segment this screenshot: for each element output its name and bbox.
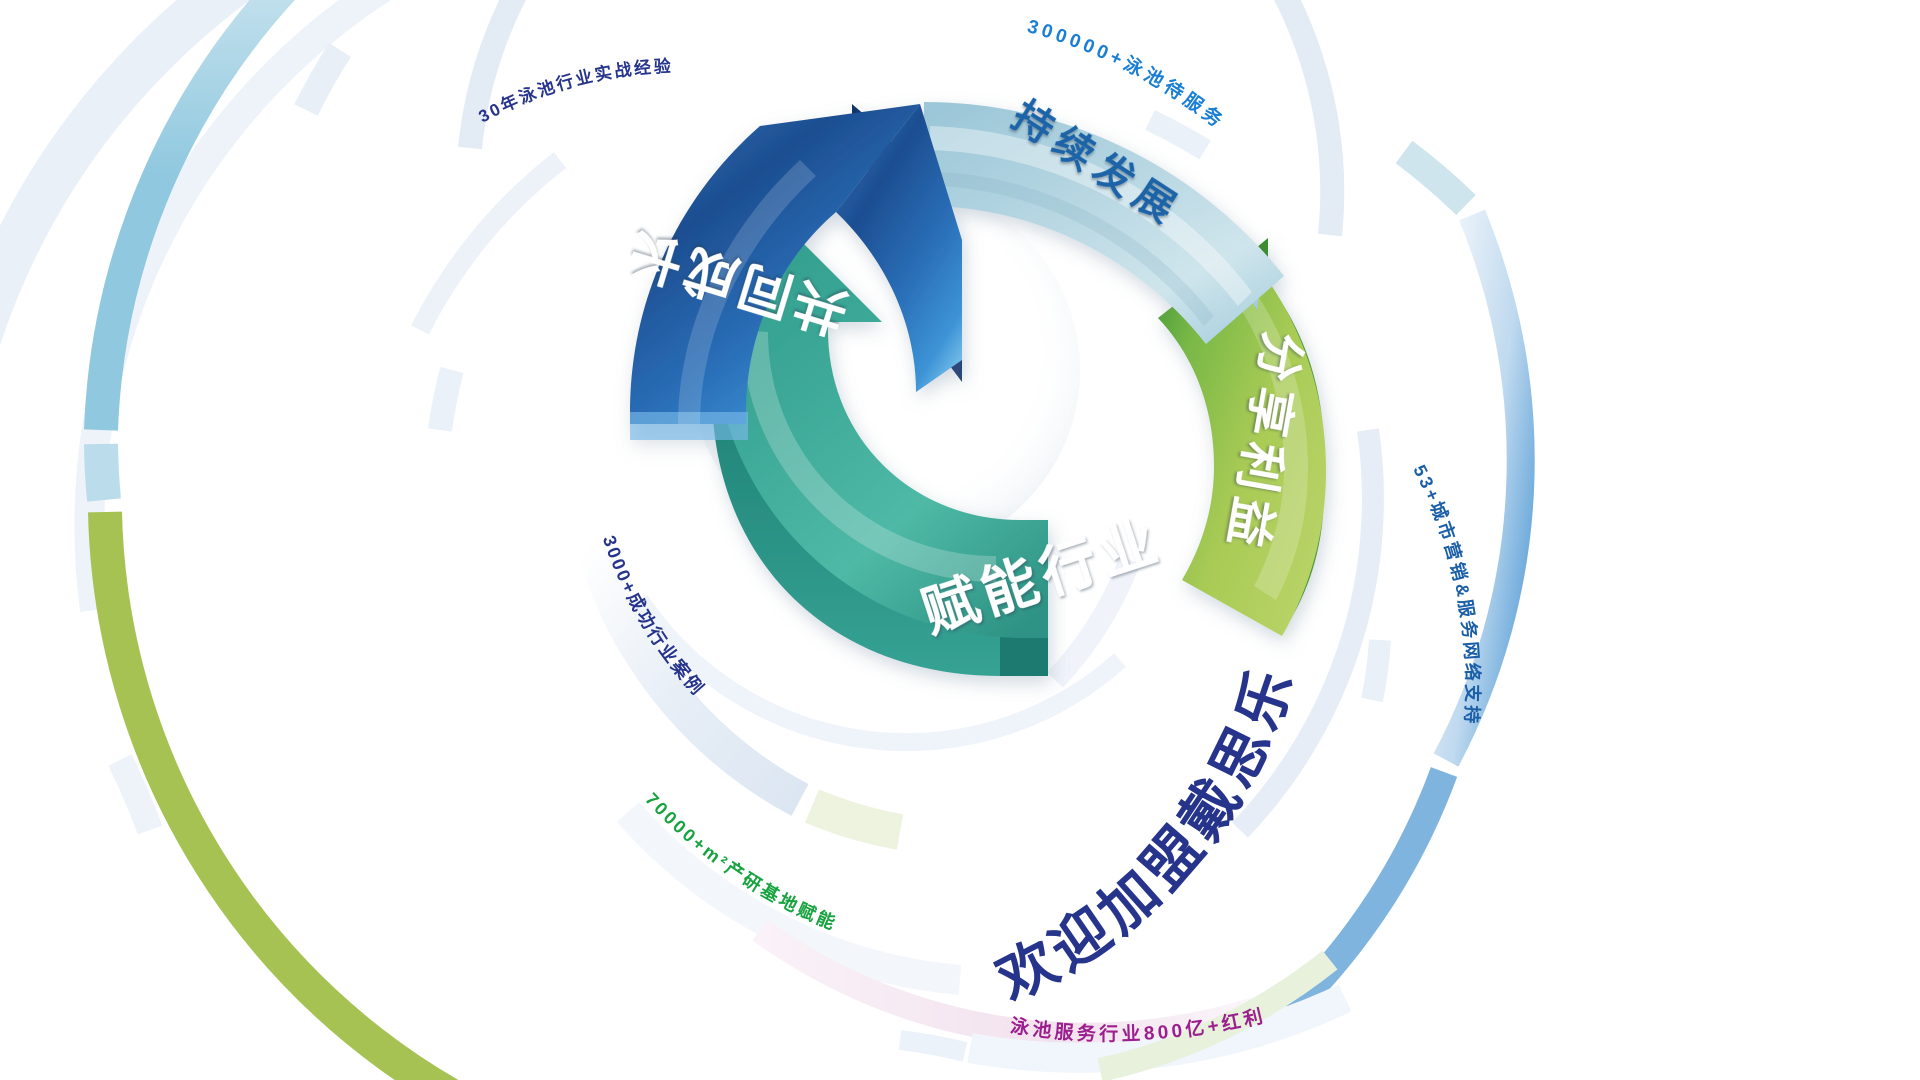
decor-ring-mid-5: [812, 806, 900, 832]
decor-ring-blue-left-tip: [101, 444, 104, 500]
stat-cities-text: 53+城市营销&服务网络支持: [1409, 462, 1483, 727]
decor-ring-green-left: [105, 512, 520, 1080]
segment-empower-side2: [1000, 636, 1048, 676]
decor-tick-5: [900, 1040, 965, 1052]
decor-tick-2: [1150, 120, 1205, 150]
poster-canvas: 共同成长 持续发展 分享利益 赋能行业 30年泳池行业实战经验 300000+泳…: [0, 0, 1920, 1080]
decor-ring-blue-right-tip: [1404, 152, 1466, 205]
poster-svg: 共同成长 持续发展 分享利益 赋能行业 30年泳池行业实战经验 300000+泳…: [0, 0, 1920, 1080]
decor-ring-blue-right: [1446, 215, 1521, 760]
decor-ring-mid-2: [420, 160, 560, 330]
decor-tick-4: [1372, 640, 1380, 700]
stat-experience-text: 30年泳池行业实战经验: [476, 56, 674, 127]
decor-tick-3: [440, 370, 452, 430]
